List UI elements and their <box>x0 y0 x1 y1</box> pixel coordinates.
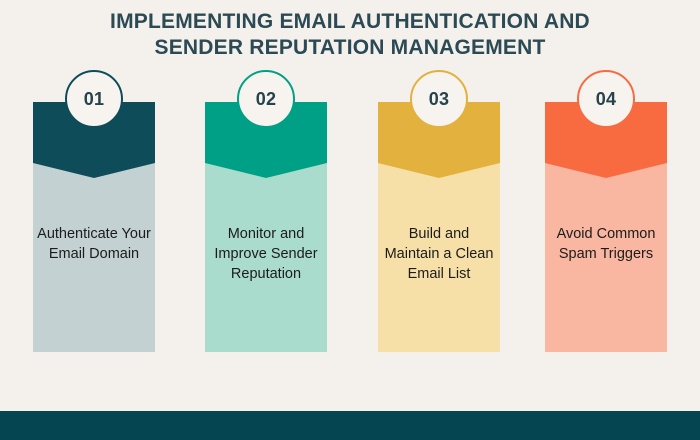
step-label-04: Avoid Common Spam Triggers <box>549 224 663 264</box>
step-label-03: Build and Maintain a Clean Email List <box>382 224 496 284</box>
step-label-01: Authenticate Your Email Domain <box>37 224 151 264</box>
page-title-line-2: SENDER REPUTATION MANAGEMENT <box>0 35 700 61</box>
step-badge-04: 04 <box>577 70 635 128</box>
step-card-03: Build and Maintain a Clean Email List <box>378 102 500 352</box>
step-number-02: 02 <box>256 89 277 110</box>
step-badge-03: 03 <box>410 70 468 128</box>
step-card-04: Avoid Common Spam Triggers <box>545 102 667 352</box>
step-label-02: Monitor and Improve Sender Reputation <box>209 224 323 284</box>
footer-bar <box>0 411 700 440</box>
step-card-02: Monitor and Improve Sender Reputation <box>205 102 327 352</box>
step-badge-02: 02 <box>237 70 295 128</box>
step-number-04: 04 <box>596 89 617 110</box>
step-badge-01: 01 <box>65 70 123 128</box>
steps-container: Authenticate Your Email Domain 01 Monito… <box>33 70 667 352</box>
page-title: IMPLEMENTING EMAIL AUTHENTICATION AND SE… <box>0 9 700 61</box>
step-number-03: 03 <box>429 89 450 110</box>
infographic-canvas: IMPLEMENTING EMAIL AUTHENTICATION AND SE… <box>0 0 700 440</box>
page-title-line-1: IMPLEMENTING EMAIL AUTHENTICATION AND <box>0 9 700 35</box>
step-card-01: Authenticate Your Email Domain <box>33 102 155 352</box>
step-number-01: 01 <box>84 89 105 110</box>
